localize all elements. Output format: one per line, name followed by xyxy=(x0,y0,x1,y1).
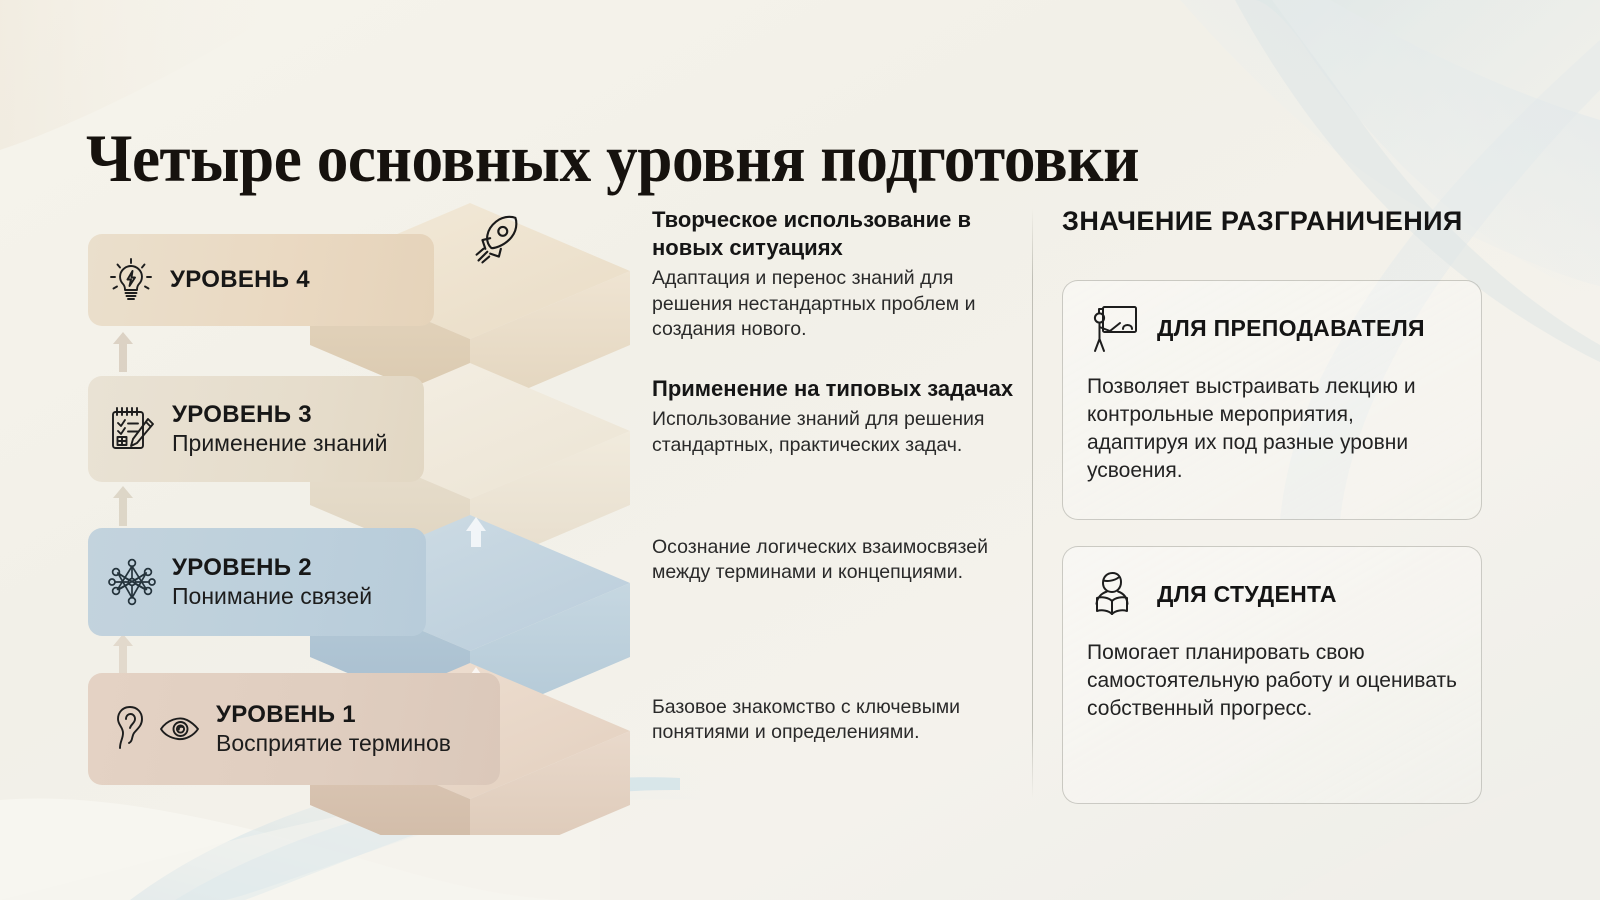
description-heading: Творческое использование в новых ситуаци… xyxy=(652,206,1002,262)
arrow-up-icon xyxy=(110,484,136,528)
level-bar-4[interactable]: УРОВЕНЬ 4 xyxy=(88,234,434,326)
level-subtitle: Понимание связей xyxy=(172,583,372,611)
description-level-2: Осознание логических взаимосвязей между … xyxy=(652,535,1014,586)
level-subtitle: Применение знаний xyxy=(172,430,387,458)
card-student[interactable]: ДЛЯ СТУДЕНТА Помогает планировать свою с… xyxy=(1062,546,1482,804)
notepad-checklist-pencil-icon xyxy=(106,403,158,455)
vertical-divider xyxy=(1032,208,1033,798)
student-reading-icon xyxy=(1087,567,1141,621)
teacher-whiteboard-icon xyxy=(1087,301,1141,355)
level-title: УРОВЕНЬ 2 xyxy=(172,554,372,582)
description-level-4: Творческое использование в новых ситуаци… xyxy=(652,206,1002,342)
description-text: Использование знаний для решения стандар… xyxy=(652,407,1014,458)
description-level-1: Базовое знакомство с ключевыми понятиями… xyxy=(652,695,1002,746)
card-teacher[interactable]: ДЛЯ ПРЕПОДАВАТЕЛЯ Позволяет выстраивать … xyxy=(1062,280,1482,520)
level-subtitle: Восприятие терминов xyxy=(216,730,451,758)
description-heading: Применение на типовых задачах xyxy=(652,375,1014,403)
arrow-up-icon xyxy=(110,330,136,374)
level-bar-2[interactable]: УРОВЕНЬ 2 Понимание связей xyxy=(88,528,426,636)
ear-eye-icon xyxy=(106,703,202,755)
rocket-icon xyxy=(465,212,527,274)
levels-pyramid: УРОВЕНЬ 4 УРОВЕНЬ 3 xyxy=(0,0,640,900)
card-title: ДЛЯ ПРЕПОДАВАТЕЛЯ xyxy=(1157,315,1425,342)
card-body: Позволяет выстраивать лекцию и контрольн… xyxy=(1087,373,1457,485)
level-bar-1[interactable]: УРОВЕНЬ 1 Восприятие терминов xyxy=(88,673,500,785)
level-title: УРОВЕНЬ 4 xyxy=(170,266,310,294)
significance-title: ЗНАЧЕНИЕ РАЗГРАНИЧЕНИЯ xyxy=(1062,206,1492,237)
description-text: Базовое знакомство с ключевыми понятиями… xyxy=(652,695,1002,746)
arrow-up-icon xyxy=(110,632,136,676)
level-title: УРОВЕНЬ 3 xyxy=(172,401,387,429)
network-nodes-icon xyxy=(106,556,158,608)
description-text: Осознание логических взаимосвязей между … xyxy=(652,535,1014,586)
lightbulb-bolt-icon xyxy=(106,255,156,305)
card-header: ДЛЯ ПРЕПОДАВАТЕЛЯ xyxy=(1087,301,1457,355)
card-header: ДЛЯ СТУДЕНТА xyxy=(1087,567,1457,621)
description-text: Адаптация и перенос знаний для решения н… xyxy=(652,266,1002,342)
description-level-3: Применение на типовых задачах Использова… xyxy=(652,375,1014,458)
card-title: ДЛЯ СТУДЕНТА xyxy=(1157,581,1337,608)
level-bar-3[interactable]: УРОВЕНЬ 3 Применение знаний xyxy=(88,376,424,482)
card-body: Помогает планировать свою самостоятельну… xyxy=(1087,639,1457,723)
level-title: УРОВЕНЬ 1 xyxy=(216,701,451,729)
significance-section: ЗНАЧЕНИЕ РАЗГРАНИЧЕНИЯ ДЛЯ ПРЕПОДАВ xyxy=(1062,206,1492,269)
